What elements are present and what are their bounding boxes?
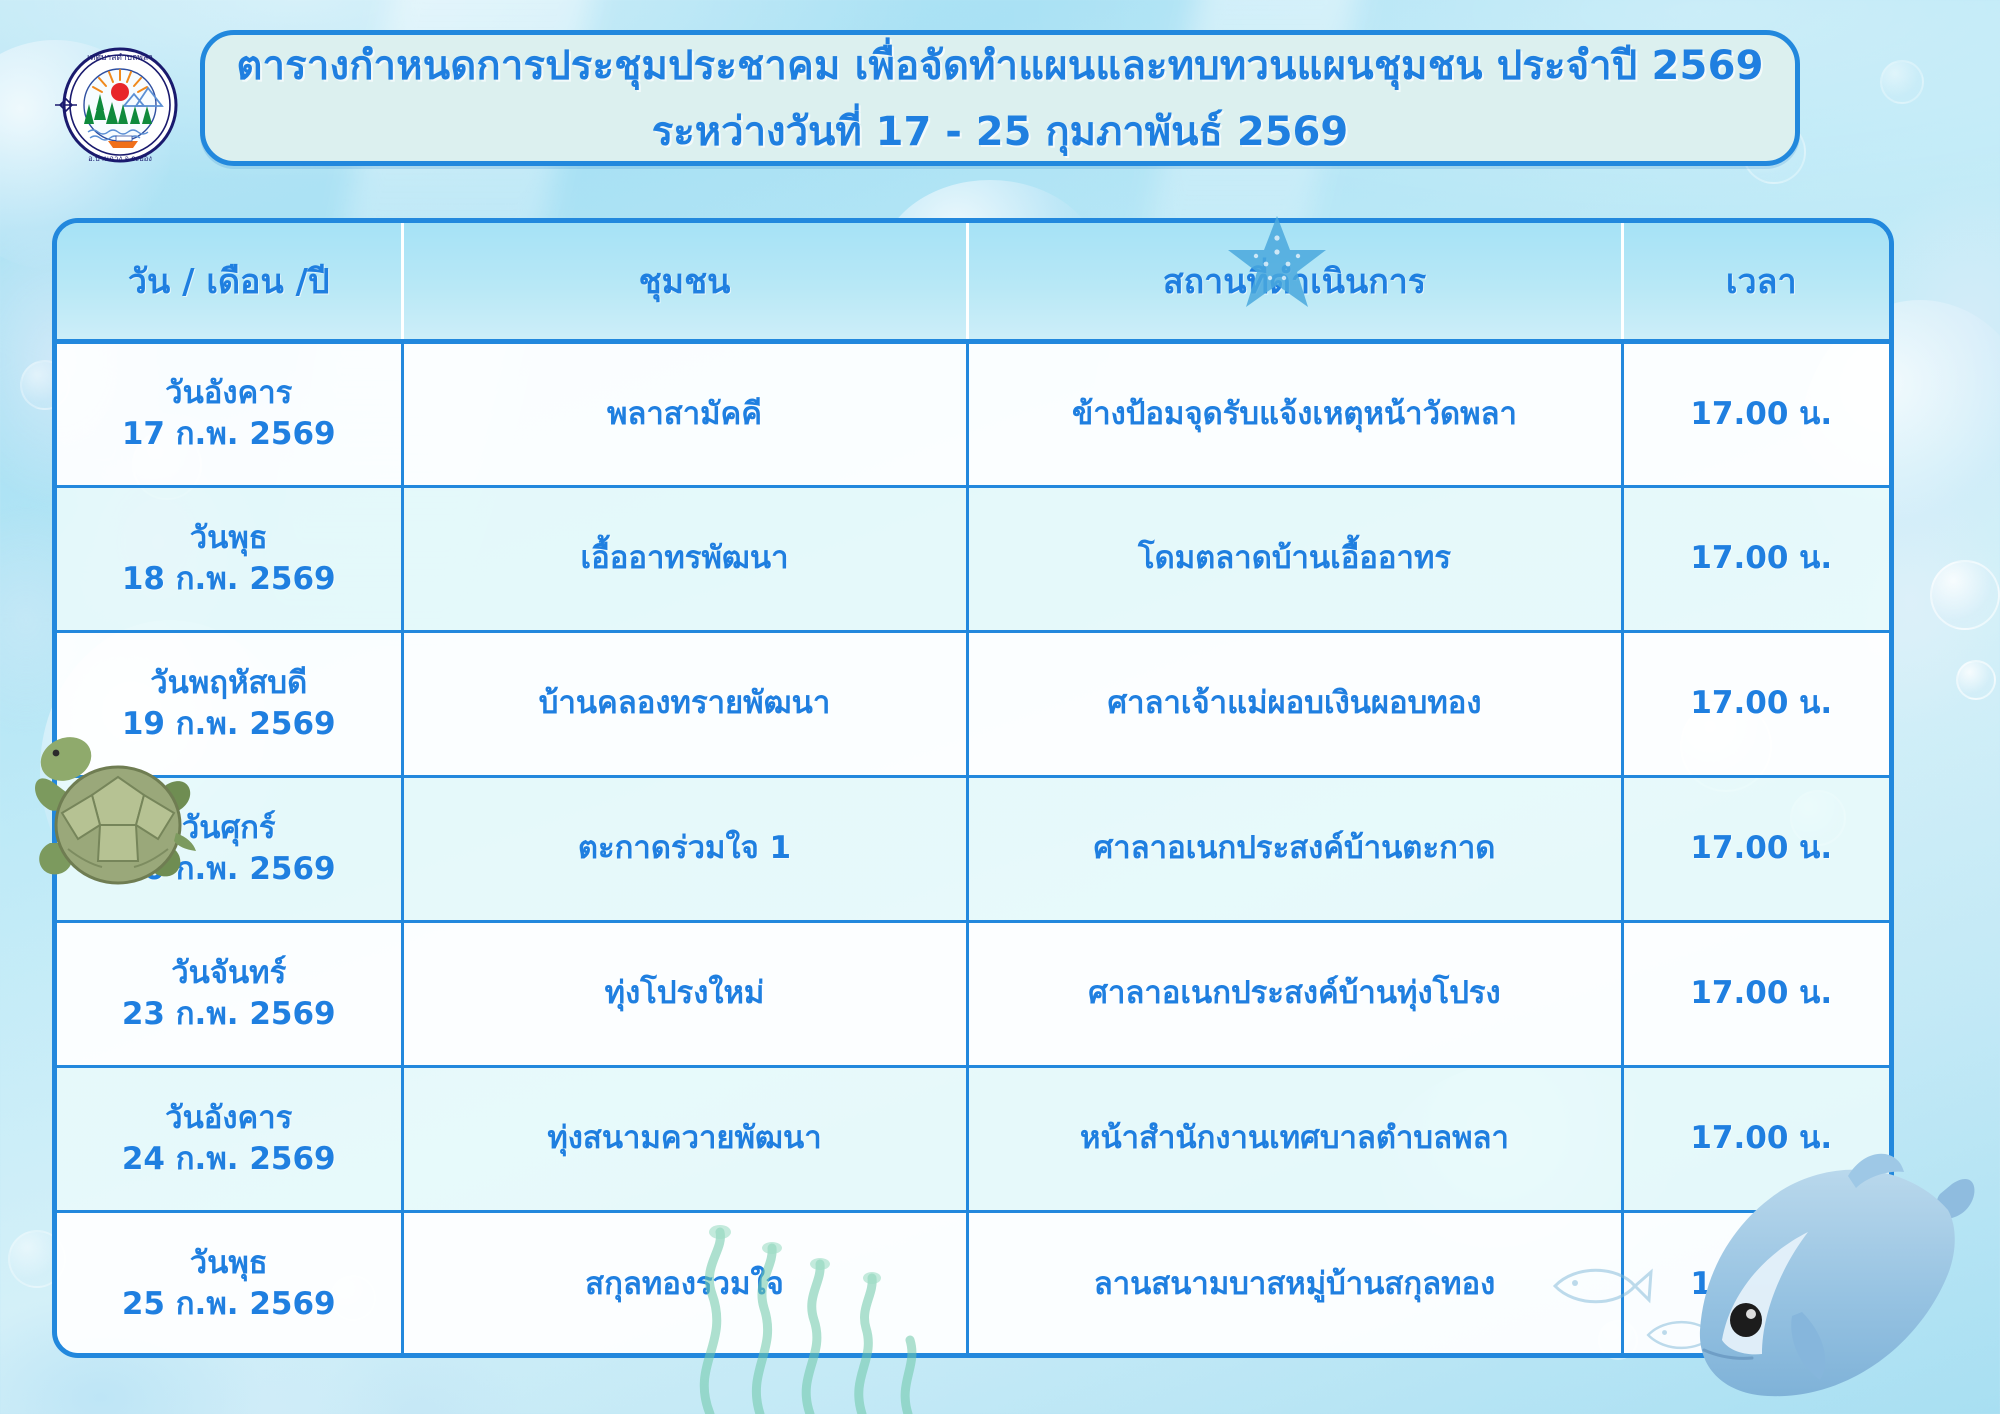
column-header-date: วัน / เดือน /ปี <box>57 223 402 341</box>
cell-time: 17.00 น. <box>1622 776 1894 921</box>
bubble-icon <box>1956 660 1996 700</box>
cell-place: ศาลาอเนกประสงค์บ้านทุ่งโปรง <box>967 921 1622 1066</box>
seal-top-text: เทศบาลตำบลพลา <box>87 53 153 63</box>
schedule-table-container: วัน / เดือน /ปี ชุมชน สถานที่ดำเนินการ เ… <box>52 218 1894 1358</box>
schedule-table: วัน / เดือน /ปี ชุมชน สถานที่ดำเนินการ เ… <box>57 223 1894 1356</box>
cell-community: พลาสามัคคี <box>402 341 967 486</box>
table-row: วันศุกร์ 20 ก.พ. 2569 ตะกาดร่วมใจ 1 ศาลา… <box>57 776 1894 921</box>
table-header: วัน / เดือน /ปี ชุมชน สถานที่ดำเนินการ เ… <box>57 223 1894 341</box>
sea-turtle-icon <box>26 725 216 905</box>
cell-date: วันอังคาร 24 ก.พ. 2569 <box>57 1066 402 1211</box>
table-row: วันพุธ 18 ก.พ. 2569 เอื้ออาทรพัฒนา โดมตล… <box>57 486 1894 631</box>
cell-date-value: 25 ก.พ. 2569 <box>57 1284 401 1325</box>
cell-date-value: 17 ก.พ. 2569 <box>57 414 401 455</box>
cell-place: ข้างป้อมจุดรับแจ้งเหตุหน้าวัดพลา <box>967 341 1622 486</box>
cell-place: หน้าสำนักงานเทศบาลตำบลพลา <box>967 1066 1622 1211</box>
cell-time: 17.00 น. <box>1622 486 1894 631</box>
dolphin-icon <box>1652 1144 1982 1404</box>
cell-community: เอื้ออาทรพัฒนา <box>402 486 967 631</box>
page-title-line2: ระหว่างวันที่ 17 - 25 กุมภาพันธ์ 2569 <box>652 99 1348 163</box>
table-header-row: วัน / เดือน /ปี ชุมชน สถานที่ดำเนินการ เ… <box>57 223 1894 341</box>
table-row: วันพฤหัสบดี 19 ก.พ. 2569 บ้านคลองทรายพัฒ… <box>57 631 1894 776</box>
cell-date: วันอังคาร 17 ก.พ. 2569 <box>57 341 402 486</box>
cell-day-name: วันพุธ <box>57 518 401 559</box>
cell-day-name: วันอังคาร <box>57 1098 401 1139</box>
column-header-community: ชุมชน <box>402 223 967 341</box>
cell-time: 17.00 น. <box>1622 341 1894 486</box>
cell-day-name: วันอังคาร <box>57 373 401 414</box>
cell-place: โดมตลาดบ้านเอื้ออาทร <box>967 486 1622 631</box>
cell-place: ศาลาเจ้าแม่ผอบเงินผอบทอง <box>967 631 1622 776</box>
municipality-seal-logo: เทศบาลตำบลพลา อ.บ้านฉาง จ.ระยอง <box>50 44 190 166</box>
title-card: ตารางกำหนดการประชุมประชาคม เพื่อจัดทำแผน… <box>200 30 1800 166</box>
table-row: วันพุธ 25 ก.พ. 2569 สกุลทองรวมใจ ลานสนาม… <box>57 1211 1894 1356</box>
page-title-line1: ตารางกำหนดการประชุมประชาคม เพื่อจัดทำแผน… <box>236 33 1763 97</box>
cell-community: ตะกาดร่วมใจ 1 <box>402 776 967 921</box>
cell-community: ทุ่งสนามควายพัฒนา <box>402 1066 967 1211</box>
cell-date: วันพุธ 18 ก.พ. 2569 <box>57 486 402 631</box>
cell-community: ทุ่งโปรงใหม่ <box>402 921 967 1066</box>
cell-time: 17.00 น. <box>1622 631 1894 776</box>
cell-day-name: วันพุธ <box>57 1243 401 1284</box>
cell-community: สกุลทองรวมใจ <box>402 1211 967 1356</box>
table-row: วันอังคาร 24 ก.พ. 2569 ทุ่งสนามควายพัฒนา… <box>57 1066 1894 1211</box>
table-row: วันจันทร์ 23 ก.พ. 2569 ทุ่งโปรงใหม่ ศาลา… <box>57 921 1894 1066</box>
cell-date-value: 23 ก.พ. 2569 <box>57 994 401 1035</box>
cell-day-name: วันพฤหัสบดี <box>57 663 401 704</box>
table-body: วันอังคาร 17 ก.พ. 2569 พลาสามัคคี ข้างป้… <box>57 341 1894 1356</box>
cell-place: ลานสนามบาสหมู่บ้านสกุลทอง <box>967 1211 1622 1356</box>
cell-date-value: 24 ก.พ. 2569 <box>57 1139 401 1180</box>
cell-time: 17.00 น. <box>1622 921 1894 1066</box>
cell-date: วันพุธ 25 ก.พ. 2569 <box>57 1211 402 1356</box>
cell-community: บ้านคลองทรายพัฒนา <box>402 631 967 776</box>
starfish-icon <box>1222 212 1332 312</box>
table-row: วันอังคาร 17 ก.พ. 2569 พลาสามัคคี ข้างป้… <box>57 341 1894 486</box>
cell-date: วันจันทร์ 23 ก.พ. 2569 <box>57 921 402 1066</box>
cell-date-value: 18 ก.พ. 2569 <box>57 559 401 600</box>
bubble-icon <box>1930 560 2000 630</box>
column-header-time: เวลา <box>1622 223 1894 341</box>
cell-place: ศาลาอเนกประสงค์บ้านตะกาด <box>967 776 1622 921</box>
page-header: เทศบาลตำบลพลา อ.บ้านฉาง จ.ระยอง ตารางกำห… <box>0 22 2000 172</box>
cell-day-name: วันจันทร์ <box>57 953 401 994</box>
seal-bottom-text: อ.บ้านฉาง จ.ระยอง <box>88 154 152 163</box>
